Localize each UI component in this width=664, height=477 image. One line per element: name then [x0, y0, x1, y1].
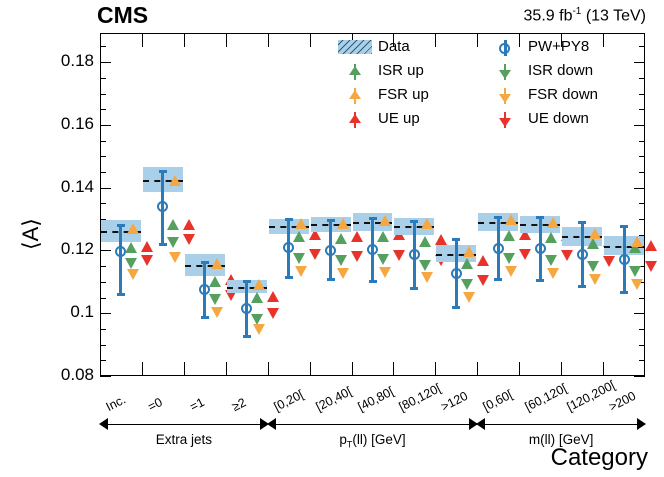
x-category-label: =0 — [146, 395, 165, 414]
y-tick-minor — [100, 94, 106, 95]
variation-marker-ue-down — [519, 249, 531, 260]
variation-marker-isr-down — [167, 237, 179, 248]
variation-marker-isr-up — [419, 236, 431, 247]
legend-symbol-pw-py8 — [488, 40, 522, 56]
y-tick-minor — [100, 156, 106, 157]
error-bar-cap-bottom — [159, 243, 167, 246]
variation-marker-fsr-down — [589, 274, 601, 285]
legend-data-band — [338, 40, 372, 54]
variation-marker-fsr-up — [589, 228, 601, 239]
variation-marker-isr-down — [545, 255, 557, 266]
variation-marker-ue-down — [141, 255, 153, 266]
y-tick-minor-right — [639, 172, 645, 173]
variation-marker-fsr-up — [547, 217, 559, 228]
error-bar-cap-top — [536, 216, 544, 219]
error-bar-cap-bottom — [285, 276, 293, 279]
group-range-line — [276, 424, 470, 425]
variation-marker-fsr-down — [127, 269, 139, 280]
x-tick — [142, 362, 143, 376]
variation-marker-ue-down — [393, 250, 405, 261]
variation-marker-ue-down — [561, 250, 573, 261]
y-tick-minor — [100, 141, 106, 142]
variation-marker-ue-up — [435, 234, 447, 245]
error-bar-cap-top — [578, 221, 586, 224]
variation-marker-isr-down — [587, 261, 599, 272]
variation-marker-ue-down — [351, 251, 363, 262]
variation-marker-isr-up — [167, 219, 179, 230]
group-arrow-left — [267, 418, 276, 430]
variation-marker-ue-down — [183, 234, 195, 245]
variation-marker-isr-up — [503, 230, 515, 241]
x-tick — [352, 362, 353, 376]
error-bar-cap-top — [243, 280, 251, 283]
x-category-label: [0,20[ — [271, 387, 305, 414]
variation-marker-isr-down — [503, 253, 515, 264]
y-tick-minor-right — [639, 345, 645, 346]
variation-marker-isr-down — [251, 314, 263, 325]
variation-marker-fsr-down — [169, 252, 181, 263]
variation-marker-ue-up — [141, 241, 153, 252]
legend-symbol-fsr-up — [338, 88, 372, 104]
error-bar-cap-bottom — [410, 287, 418, 290]
variation-marker-fsr-down — [463, 292, 475, 303]
variation-marker-isr-up — [125, 242, 137, 253]
error-bar-cap-top — [410, 220, 418, 223]
y-tick-label: 0.16 — [40, 114, 94, 134]
legend-triangle — [349, 66, 361, 75]
variation-marker-isr-down — [461, 279, 473, 290]
group-range-line — [485, 424, 637, 425]
variation-marker-fsr-up — [211, 258, 223, 269]
legend-label-ue-up: UE up — [378, 110, 420, 127]
y-tick-minor — [100, 172, 106, 173]
error-bar — [119, 224, 122, 296]
x-tick-top — [226, 33, 227, 47]
x-tick-top — [142, 33, 143, 47]
legend-label-fsr-down: FSR down — [528, 86, 598, 103]
y-tick-major — [100, 62, 111, 63]
variation-marker-isr-down — [629, 266, 641, 277]
x-axis-title: Category — [551, 444, 648, 472]
variation-marker-isr-up — [461, 258, 473, 269]
error-bar-cap-top — [117, 224, 125, 227]
variation-marker-fsr-down — [547, 268, 559, 279]
y-tick-minor — [100, 203, 106, 204]
pwpy8-marker — [619, 254, 630, 265]
error-bar-cap-top — [452, 238, 460, 241]
variation-marker-isr-down — [209, 294, 221, 305]
x-category-label: [0,60[ — [481, 387, 515, 414]
legend-symbol-fsr-down — [488, 88, 522, 104]
y-tick-minor — [100, 345, 106, 346]
x-tick — [184, 362, 185, 376]
y-tick-label: 0.08 — [40, 365, 94, 385]
x-category-label: =1 — [187, 395, 206, 414]
x-tick — [477, 362, 478, 376]
error-bar-cap-top — [159, 170, 167, 173]
y-tick-major-right — [634, 313, 645, 314]
y-tick-major — [100, 376, 111, 377]
error-bar-cap-top — [620, 225, 628, 228]
variation-marker-fsr-up — [463, 246, 475, 257]
legend-triangle — [499, 118, 511, 127]
y-tick-minor-right — [639, 46, 645, 47]
y-tick-minor — [100, 46, 106, 47]
error-bar-cap-top — [369, 217, 377, 220]
variation-marker-ue-up — [267, 291, 279, 302]
variation-marker-fsr-down — [337, 268, 349, 279]
variation-marker-isr-down — [335, 255, 347, 266]
legend-symbol-data — [338, 40, 372, 56]
legend-triangle — [499, 94, 511, 103]
legend-triangle — [499, 70, 511, 79]
variation-marker-isr-up — [293, 231, 305, 242]
x-category-label: [80,120[ — [397, 381, 444, 414]
legend: DataPW+PY8ISR upISR downFSR upFSR downUE… — [338, 38, 636, 138]
group-arrow-right — [637, 418, 646, 430]
x-tick-top — [310, 33, 311, 47]
variation-marker-fsr-down — [379, 267, 391, 278]
variation-marker-fsr-up — [169, 175, 181, 186]
variation-marker-isr-up — [545, 232, 557, 243]
y-tick-label: 0.14 — [40, 177, 94, 197]
y-tick-minor — [100, 266, 106, 267]
legend-symbol-isr-down — [488, 64, 522, 80]
variation-marker-fsr-down — [505, 266, 517, 277]
variation-marker-ue-up — [477, 255, 489, 266]
legend-label-fsr-up: FSR up — [378, 86, 429, 103]
variation-marker-ue-down — [309, 249, 321, 260]
variation-marker-fsr-up — [631, 236, 643, 247]
error-bar-cap-bottom — [578, 285, 586, 288]
variation-marker-isr-up — [251, 292, 263, 303]
variation-marker-ue-up — [645, 240, 657, 251]
error-bar-cap-top — [327, 219, 335, 222]
error-bar-cap-bottom — [243, 335, 251, 338]
variation-marker-fsr-down — [211, 307, 223, 318]
y-tick-minor-right — [639, 94, 645, 95]
y-tick-major-right — [634, 188, 645, 189]
group-label-main: p — [339, 432, 347, 447]
group-label-1: pT(ll) [GeV] — [276, 432, 470, 450]
y-tick-minor-right — [639, 141, 645, 142]
x-tick — [268, 362, 269, 376]
y-tick-major — [100, 125, 111, 126]
x-category-label: Inc. — [104, 392, 128, 414]
variation-marker-isr-down — [293, 253, 305, 264]
variation-marker-isr-up — [209, 276, 221, 287]
x-category-label: ≥2 — [229, 395, 248, 414]
variation-marker-isr-up — [587, 238, 599, 249]
group-label-tail: (ll) [GeV] — [352, 432, 405, 447]
legend-symbol-ue-down — [488, 112, 522, 128]
variation-marker-fsr-up — [127, 223, 139, 234]
variation-marker-isr-down — [419, 260, 431, 271]
x-category-label: [60,120[ — [523, 381, 570, 414]
y-tick-minor-right — [639, 329, 645, 330]
variation-marker-fsr-up — [505, 214, 517, 225]
variation-marker-fsr-up — [295, 218, 307, 229]
error-bar-cap-bottom — [327, 278, 335, 281]
figure-canvas: CMS 35.9 fb-1 (13 TeV) ⟨A⟩ 0.180.160.140… — [0, 0, 664, 477]
legend-circle — [499, 43, 510, 54]
y-tick-minor-right — [639, 360, 645, 361]
legend-triangle — [349, 90, 361, 99]
variation-marker-ue-down — [603, 256, 615, 267]
y-tick-minor-right — [639, 78, 645, 79]
lumi-value: 35.9 fb — [524, 7, 573, 24]
error-bar-cap-top — [201, 261, 209, 264]
x-tick — [393, 362, 394, 376]
variation-marker-ue-up — [351, 231, 363, 242]
pwpy8-marker — [577, 249, 588, 260]
variation-marker-fsr-up — [253, 279, 265, 290]
y-tick-minor-right — [639, 203, 645, 204]
variation-marker-isr-down — [125, 258, 137, 269]
legend-label-isr-down: ISR down — [528, 62, 593, 79]
y-tick-minor-right — [639, 219, 645, 220]
x-tick — [310, 362, 311, 376]
y-tick-minor — [100, 282, 106, 283]
variation-marker-isr-up — [377, 231, 389, 242]
variation-marker-fsr-down — [295, 266, 307, 277]
variation-marker-isr-up — [335, 233, 347, 244]
cms-label: CMS — [97, 2, 148, 29]
error-bar-cap-bottom — [620, 291, 628, 294]
y-tick-minor-right — [639, 109, 645, 110]
error-bar-cap-top — [285, 218, 293, 221]
legend-label-pw-py8: PW+PY8 — [528, 38, 589, 55]
legend-label-data: Data — [378, 38, 410, 55]
group-range-line — [108, 424, 260, 425]
variation-marker-fsr-up — [379, 215, 391, 226]
y-tick-major — [100, 188, 111, 189]
y-tick-major — [100, 313, 111, 314]
x-tick — [603, 362, 604, 376]
error-bar-cap-bottom — [117, 293, 125, 296]
y-tick-minor — [100, 109, 106, 110]
x-tick — [519, 362, 520, 376]
legend-label-isr-up: ISR up — [378, 62, 424, 79]
legend-symbol-isr-up — [338, 64, 372, 80]
group-label-0: Extra jets — [108, 432, 260, 447]
y-tick-label: 0.12 — [40, 239, 94, 259]
y-tick-label: 0.18 — [40, 51, 94, 71]
lumi-energy: (13 TeV) — [581, 7, 646, 24]
error-bar-cap-top — [494, 216, 502, 219]
pwpy8-marker — [535, 243, 546, 254]
error-bar-cap-bottom — [452, 306, 460, 309]
legend-symbol-ue-up — [338, 112, 372, 128]
y-tick-label: 0.1 — [40, 302, 94, 322]
x-tick-top — [184, 33, 185, 47]
y-tick-major-right — [634, 376, 645, 377]
error-bar-cap-bottom — [494, 278, 502, 281]
variation-marker-fsr-down — [631, 279, 643, 290]
x-tick — [435, 362, 436, 376]
y-tick-major — [100, 250, 111, 251]
error-bar-cap-bottom — [536, 279, 544, 282]
x-category-label: [20,40[ — [313, 384, 353, 414]
y-tick-minor — [100, 329, 106, 330]
pwpy8-marker — [451, 268, 462, 279]
variation-marker-fsr-up — [421, 218, 433, 229]
y-tick-minor — [100, 298, 106, 299]
luminosity-label: 35.9 fb-1 (13 TeV) — [524, 6, 646, 25]
variation-marker-ue-down — [477, 275, 489, 286]
x-category-label: [40,80[ — [355, 384, 395, 414]
legend-triangle — [349, 114, 361, 123]
x-tick — [561, 362, 562, 376]
x-category-label: >120 — [439, 389, 470, 414]
error-bar-cap-bottom — [201, 316, 209, 319]
y-tick-minor — [100, 360, 106, 361]
variation-marker-isr-down — [377, 254, 389, 265]
variation-marker-ue-down — [645, 261, 657, 272]
variation-marker-ue-up — [183, 219, 195, 230]
y-tick-minor — [100, 78, 106, 79]
group-arrow-left — [476, 418, 485, 430]
y-tick-minor-right — [639, 298, 645, 299]
variation-marker-fsr-up — [337, 218, 349, 229]
y-tick-minor-right — [639, 156, 645, 157]
legend-label-ue-down: UE down — [528, 110, 589, 127]
x-tick-top — [268, 33, 269, 47]
variation-marker-ue-down — [267, 308, 279, 319]
variation-marker-fsr-down — [253, 324, 265, 335]
error-bar-cap-bottom — [369, 280, 377, 283]
x-tick — [226, 362, 227, 376]
variation-marker-fsr-down — [421, 272, 433, 283]
group-arrow-left — [99, 418, 108, 430]
